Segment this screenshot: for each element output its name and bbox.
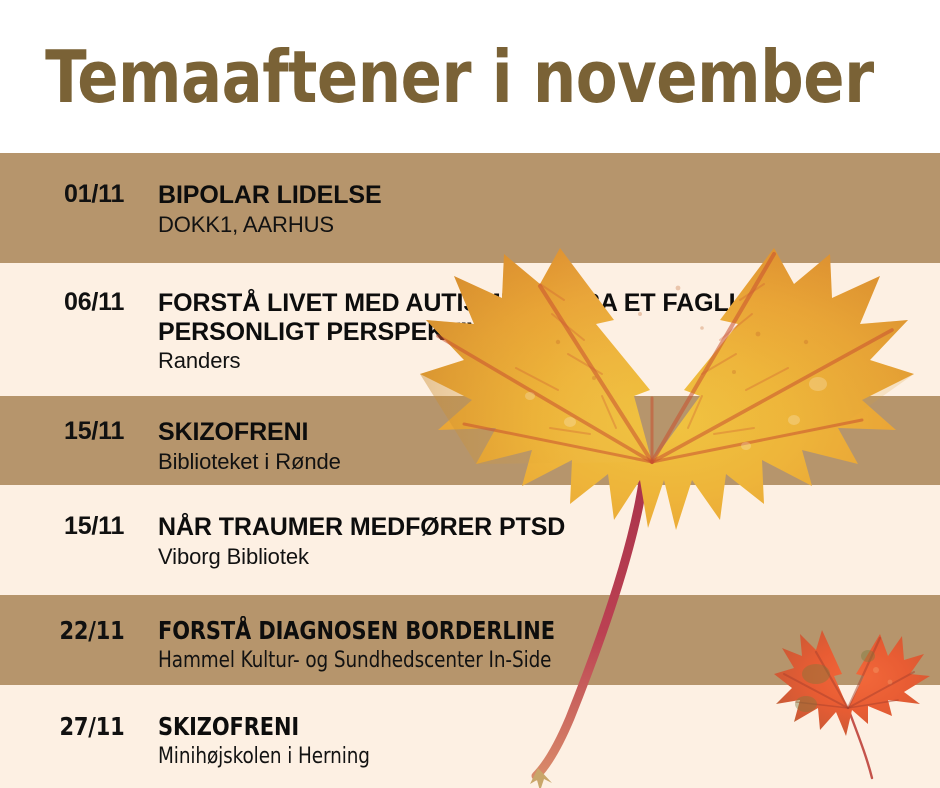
event-date: 22/11 (0, 617, 147, 644)
event-title: NÅR TRAUMER MEDFØRER PTSD (158, 513, 926, 542)
event-venue: Hammel Kultur- og Sundhedscenter In-Side (158, 648, 872, 674)
schedule-row: 06/11FORSTÅ LIVET MED AUTISME UD FRA ET … (0, 263, 940, 396)
poster-canvas: Temaaftener i november 01/11BIPOLAR LIDE… (0, 0, 940, 788)
schedule-list: 01/11BIPOLAR LIDELSEDOKK1, AARHUS06/11FO… (0, 153, 940, 788)
schedule-row: 22/11FORSTÅ DIAGNOSEN BORDERLINEHammel K… (0, 595, 940, 685)
schedule-row: 27/11SKIZOFRENIMinihøjskolen i Herning (0, 685, 940, 788)
schedule-row: 15/11SKIZOFRENIBiblioteket i Rønde (0, 396, 940, 485)
event-venue: Biblioteket i Rønde (158, 449, 926, 475)
event-title: FORSTÅ LIVET MED AUTISME UD FRA ET FAGLI… (158, 289, 926, 346)
event-date: 15/11 (0, 418, 158, 445)
event-title: BIPOLAR LIDELSE (158, 181, 926, 210)
event-details: FORSTÅ DIAGNOSEN BORDERLINEHammel Kultur… (158, 617, 940, 674)
event-details: NÅR TRAUMER MEDFØRER PTSDViborg Bibliote… (158, 513, 940, 570)
schedule-row: 01/11BIPOLAR LIDELSEDOKK1, AARHUS (0, 153, 940, 263)
event-date: 01/11 (0, 181, 158, 208)
event-title: FORSTÅ DIAGNOSEN BORDERLINE (158, 617, 872, 646)
event-details: SKIZOFRENIBiblioteket i Rønde (158, 418, 940, 475)
page-title: Temaaftener i november (0, 41, 874, 113)
event-venue: Minihøjskolen i Herning (158, 744, 872, 770)
schedule-row: 15/11NÅR TRAUMER MEDFØRER PTSDViborg Bib… (0, 485, 940, 595)
event-venue: DOKK1, AARHUS (158, 212, 926, 238)
title-bar: Temaaftener i november (0, 0, 940, 153)
event-details: FORSTÅ LIVET MED AUTISME UD FRA ET FAGLI… (158, 289, 940, 374)
event-venue: Viborg Bibliotek (158, 544, 926, 570)
event-details: SKIZOFRENIMinihøjskolen i Herning (158, 713, 940, 770)
event-venue: Randers (158, 348, 926, 374)
event-details: BIPOLAR LIDELSEDOKK1, AARHUS (158, 181, 940, 238)
event-title: SKIZOFRENI (158, 713, 872, 742)
event-date: 15/11 (0, 513, 158, 540)
event-date: 27/11 (0, 713, 147, 740)
event-date: 06/11 (0, 289, 158, 316)
event-title: SKIZOFRENI (158, 418, 926, 447)
